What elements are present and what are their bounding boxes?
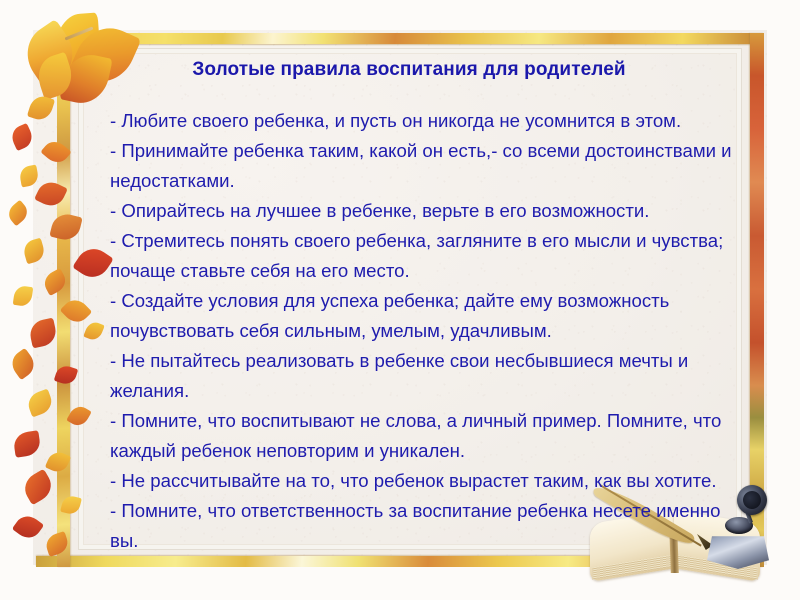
inkwell-lid-inner <box>741 489 763 511</box>
frame-bar-top <box>36 33 754 44</box>
leaf-icon <box>5 200 32 227</box>
rules-list: - Любите своего ребенка, и пусть он нико… <box>110 106 734 556</box>
rule-item: - Любите своего ребенка, и пусть он нико… <box>110 106 734 136</box>
leaf-icon <box>8 123 35 151</box>
rule-item: - Стремитесь понять своего ребенка, загл… <box>110 226 734 286</box>
rule-item: - Помните, что воспитывают не слова, а л… <box>110 406 734 466</box>
slide-canvas: Золотые правила воспитания для родителей… <box>0 0 800 600</box>
rule-item: - Создайте условия для успеха ребенка; д… <box>110 286 734 346</box>
leaf-icon <box>13 285 34 307</box>
rule-item: - Не пытайтесь реализовать в ребенке сво… <box>110 346 734 406</box>
rule-item: - Не рассчитывайте на то, что ребенок вы… <box>110 466 734 496</box>
rule-item: - Помните, что ответственность за воспит… <box>110 496 734 556</box>
rule-item: - Опирайтесь на лучшее в ребенке, верьте… <box>110 196 734 226</box>
rule-item: - Принимайте ребенка таким, какой он ест… <box>110 136 734 196</box>
slide-title: Золотые правила воспитания для родителей <box>78 58 740 82</box>
frame-bar-left <box>57 33 70 567</box>
